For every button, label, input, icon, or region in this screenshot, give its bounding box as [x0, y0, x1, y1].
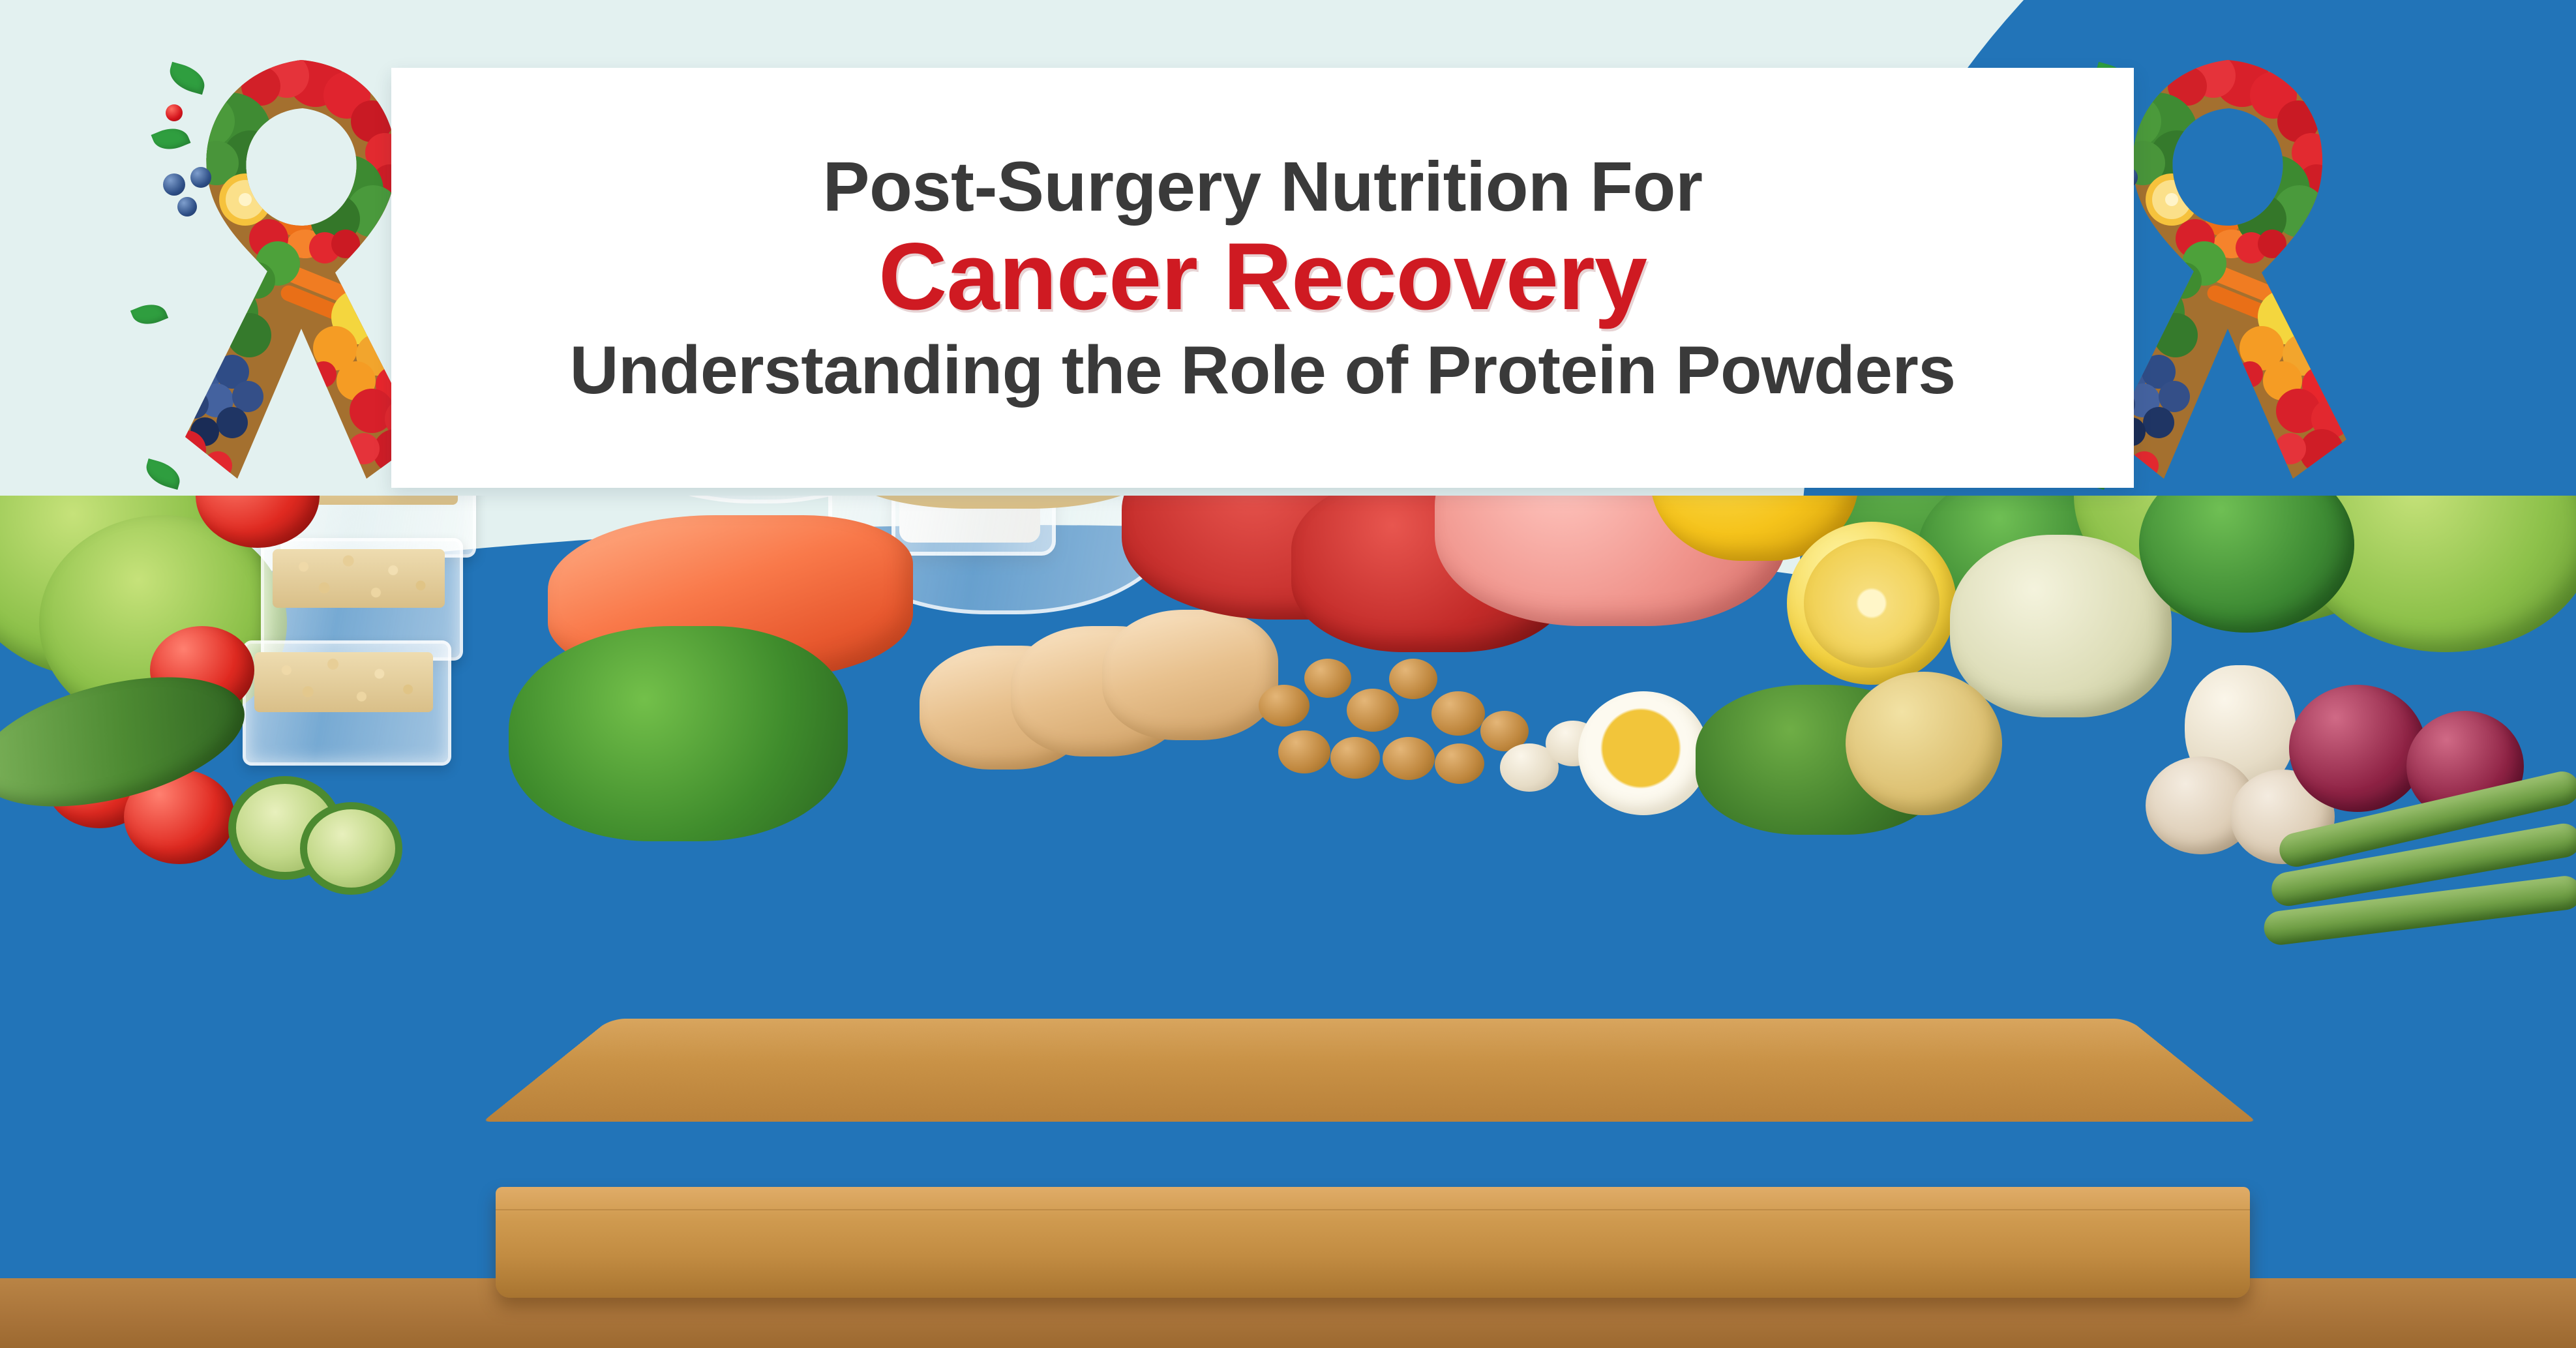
nut-icon [1347, 689, 1399, 732]
nut-icon [1389, 659, 1437, 699]
nut-icon [1304, 659, 1351, 698]
nut-icon [1431, 691, 1485, 736]
protein-powder-fill [254, 652, 433, 712]
banner-line-1: Post-Surgery Nutrition For [822, 149, 1702, 224]
food-photo-composition [0, 496, 2576, 1348]
nut-icon [1278, 730, 1330, 773]
nut-icon [1259, 685, 1310, 726]
banner-line-3: Understanding the Role of Protein Powder… [570, 335, 1956, 406]
nut-icon [1330, 737, 1380, 779]
nut-icon [1435, 743, 1484, 784]
cherry-icon [166, 104, 183, 121]
title-banner: Post-Surgery Nutrition For Cancer Recove… [391, 68, 2134, 488]
lemon-flesh-icon [1804, 539, 1939, 668]
cutting-board-surface [483, 1019, 2256, 1122]
protein-powder-fill [273, 549, 445, 608]
blueberry-icon [190, 167, 211, 188]
nut-icon [1383, 737, 1435, 780]
cucumber-slice-icon [300, 802, 402, 895]
cutting-board-edge [496, 1187, 2250, 1298]
parsley-icon [509, 626, 848, 841]
banner-line-2-highlight: Cancer Recovery [878, 228, 1647, 325]
potato-icon [1846, 672, 2002, 815]
boiled-egg-half-icon [1578, 691, 1709, 815]
red-onion-icon [2289, 685, 2426, 812]
blueberry-icon [163, 173, 185, 196]
chicken-slice-icon [1102, 610, 1278, 740]
blueberry-icon [177, 197, 197, 217]
infographic-banner: Post-Surgery Nutrition For Cancer Recove… [0, 0, 2576, 1348]
cauliflower-icon [1950, 535, 2172, 717]
